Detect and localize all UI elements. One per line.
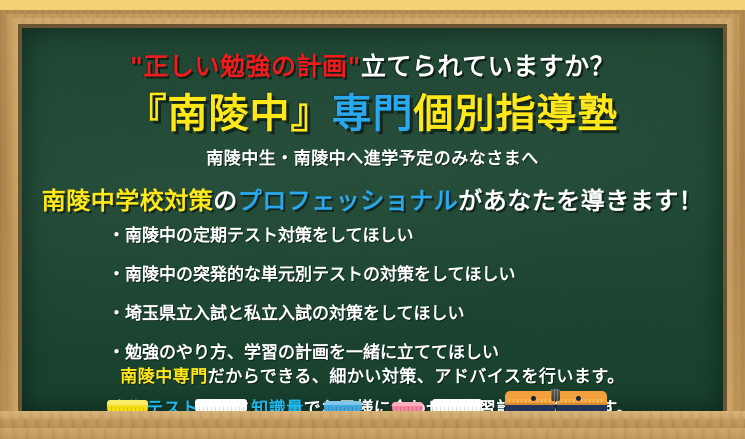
lead-connector: の	[213, 187, 238, 215]
headline-rest-text: 立てられていますか？	[361, 52, 615, 81]
lead-professional: プロフェッショナル	[238, 187, 459, 215]
eraser-left-top	[505, 391, 555, 405]
chalk-ledge-middle	[0, 419, 745, 428]
main-title: 『南陵中』専門個別指導塾	[22, 90, 723, 138]
note1-rest: だからできる、細かい対策、アドバイスを行います。	[208, 367, 625, 387]
lead-statement: 南陵中学校対策のプロフェッショナルがあなたを導きます！	[22, 186, 723, 216]
note2-knowledge-highlight: 知識量	[251, 399, 304, 411]
eraser-right-knob	[576, 396, 581, 401]
chalkboard-banner: "正しい勉強の計画"立てられていますか？ 『南陵中』専門個別指導塾 南陵中生・南…	[0, 0, 745, 439]
list-item: ・南陵中の突発的な単元別テストの対策をしてほしい	[108, 265, 708, 285]
lead-tail: があなたを導きます！	[458, 187, 703, 215]
bullet-list: ・南陵中の定期テスト対策をしてほしい ・南陵中の突発的な単元別テストの対策をして…	[108, 226, 708, 382]
chalk-ledge-top	[0, 411, 745, 419]
list-item: ・勉強のやり方、学習の計画を一緒に立ててほしい	[108, 343, 708, 363]
title-school-name: 『南陵中』	[127, 91, 332, 137]
eraser-right-top	[557, 391, 607, 405]
list-item: ・南陵中の定期テスト対策をしてほしい	[108, 226, 708, 246]
title-cram-school: 個別指導塾	[414, 91, 619, 137]
eraser-clip-icon	[551, 389, 560, 401]
note1-highlight: 南陵中専門	[120, 367, 208, 387]
chalkboard-content: "正しい勉強の計画"立てられていますか？ 『南陵中』専門個別指導塾 南陵中生・南…	[22, 28, 723, 411]
subtitle: 南陵中生・南陵中へ進学予定のみなさまへ	[22, 148, 723, 170]
headline: "正しい勉強の計画"立てられていますか？	[22, 52, 723, 82]
lead-school-measures: 南陵中学校対策	[42, 187, 214, 215]
note-line-1: 南陵中専門だからできる、細かい対策、アドバイスを行います。	[22, 366, 723, 388]
chalk-ledge-bottom	[0, 428, 745, 439]
list-item: ・埼玉県立入試と私立入試の対策をしてほしい	[108, 304, 708, 324]
headline-quoted-text: "正しい勉強の計画"	[130, 52, 361, 81]
chalkboard-surface: "正しい勉強の計画"立てられていますか？ 『南陵中』専門個別指導塾 南陵中生・南…	[22, 28, 723, 411]
title-specialty: 専門	[332, 91, 414, 137]
eraser-left-knob	[531, 396, 536, 401]
